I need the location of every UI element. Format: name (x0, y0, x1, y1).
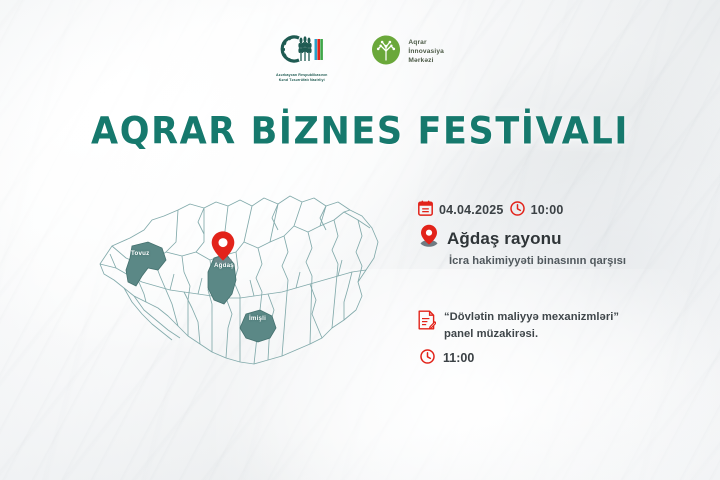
ministry-logo-caption: Azərbaycan Respublikasının Kənd Təsərrüf… (276, 73, 327, 83)
clock-icon (510, 201, 525, 219)
aic-logo-caption: Aqrar İnnovasiya Mərkəzi (408, 39, 444, 65)
calendar-icon (418, 200, 433, 219)
map-svg (86, 172, 386, 387)
event-datetime-row: 04.04.2025 10:00 (418, 200, 668, 219)
panel-session-title: “Dövlətin maliyyə mexanizmləri” panel mü… (444, 309, 619, 342)
event-start-time: 10:00 (531, 203, 564, 217)
page-title: AQRAR BİZNES FESTİVALI (0, 111, 720, 153)
panel-session-block: “Dövlətin maliyyə mexanizmləri” panel mü… (418, 309, 668, 367)
panel-session-time-row: 11:00 (418, 349, 668, 367)
logo-ministry-of-agriculture: Azərbaycan Respublikasının Kənd Təsərrüf… (276, 34, 327, 83)
event-date: 04.04.2025 (439, 203, 504, 217)
map-region-label-imisli: İmişli (249, 315, 266, 322)
map-region-label-tovuz: Tovuz (131, 250, 149, 257)
highlighted-regions (126, 242, 276, 342)
event-venue-row: Ağdaş rayonu (418, 224, 668, 253)
azerbaijan-map: Tovuz Ağdaş İmişli (86, 172, 386, 387)
poster-canvas: Azərbaycan Respublikasının Kənd Təsərrüf… (0, 0, 720, 480)
logo-bar: Azərbaycan Respublikasının Kənd Təsərrüf… (0, 34, 720, 83)
wheat-gear-emblem-icon (279, 34, 325, 69)
logo-agrarian-innovation-center: Aqrar İnnovasiya Mərkəzi (371, 34, 444, 71)
green-tree-circuit-leaf-icon (371, 34, 401, 71)
event-venue-detail: İcra hakimiyyəti binasının qarşısı (449, 255, 668, 267)
event-venue-city: Ağdaş rayonu (447, 229, 562, 249)
event-info-panel: 04.04.2025 10:00 Ağdaş rayonu İcra hakim… (418, 200, 668, 367)
clock-icon (420, 349, 435, 367)
panel-session-time: 11:00 (443, 351, 474, 365)
map-pin-marker-icon[interactable] (210, 230, 236, 264)
document-pen-icon (418, 309, 436, 335)
map-pin-icon (418, 224, 440, 253)
